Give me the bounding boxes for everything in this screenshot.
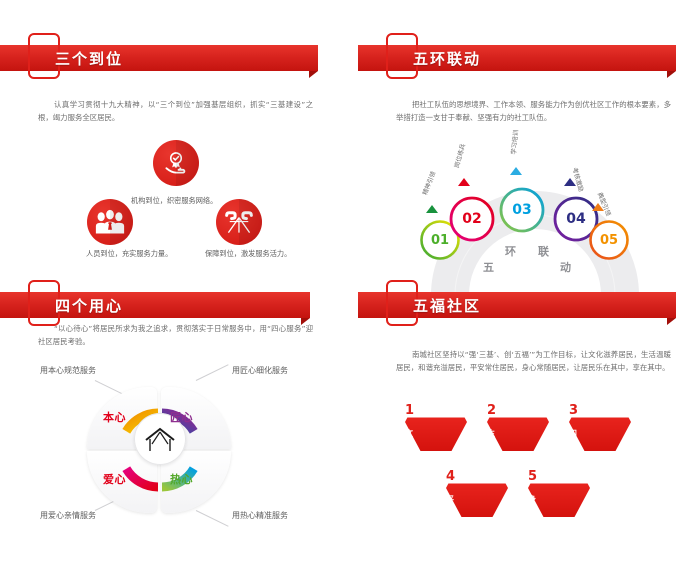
icon-shadow [110, 199, 133, 245]
icon-shadow [239, 199, 262, 245]
section-banner-four-hearts: 四个用心 [0, 280, 310, 326]
icon-circle-institution [153, 140, 199, 186]
hexagon-shape [528, 459, 590, 517]
ring-label-02: 岗位练兵 [452, 142, 467, 168]
section-title-five-blessings: 五福社区 [413, 292, 481, 318]
quadrant-outer-label-rexin: 用热心精准服务 [232, 510, 288, 521]
section-title-four-hearts: 四个用心 [55, 292, 123, 318]
quadrant-label-benxin: 本心 [103, 409, 126, 425]
section-title-five-ring: 五环联动 [413, 45, 481, 71]
section-body-five-ring: 把社工队伍的思想境界、工作本领、服务能力作为创优社区工作的根本要素，多举措打造一… [396, 98, 671, 124]
quadrant-label-jiangxin: 匠心 [170, 409, 193, 425]
section-title-three-in-place: 三个到位 [55, 45, 123, 71]
ring-arrow-02 [458, 178, 470, 186]
hexagon-shape [569, 393, 631, 451]
icon-shadow [176, 140, 199, 186]
section-body-five-blessings: 南城社区坚持以“强‘三基’、创‘五福’”为工作目标，让文化滋养居民，生活温暖居民… [396, 348, 671, 374]
ring-arrow-03 [510, 167, 522, 175]
arch-char-1: 五 [483, 259, 494, 275]
quadrant-label-rexin: 热心 [170, 471, 193, 487]
ring-number-03: 03 [503, 191, 541, 229]
infographic-page: 三个到位 认真学习贯彻十九大精神，以“三个到位”加强基层组织，抓实“三基建设”之… [0, 0, 700, 571]
quadrant-label-aixin: 爱心 [103, 471, 126, 487]
ring-arrow-01 [426, 205, 438, 213]
hexagon-shape [487, 393, 549, 451]
section-body-four-hearts: “以心待心”将居民所求为我之追求，贯彻落实于日常服务中，用“四心服务”迎社区居民… [38, 322, 313, 348]
section-banner-three-in-place: 三个到位 [0, 33, 318, 79]
section-body-three-in-place: 认真学习贯彻十九大精神，以“三个到位”加强基层组织，抓实“三基建设”之根，竭力服… [38, 98, 313, 124]
house-roof-icon [143, 426, 177, 452]
hexagon-shape [405, 393, 467, 451]
icon-label-support: 保障到位，激发服务活力。 [205, 249, 291, 259]
arch-char-4: 动 [560, 259, 571, 275]
icon-circle-support [216, 199, 262, 245]
icon-circle-staff [87, 199, 133, 245]
icon-label-staff: 人员到位，充实服务力量。 [86, 249, 172, 259]
leader-line [196, 364, 229, 381]
icon-label-institution: 机构到位，织密服务网络。 [131, 196, 217, 206]
arch-char-2: 环 [505, 243, 516, 259]
ring-number-02: 02 [453, 200, 491, 238]
quadrant-outer-label-benxin: 用本心规范服务 [40, 365, 96, 376]
quadrant-outer-label-jiangxin: 用匠心细化服务 [232, 365, 288, 376]
section-banner-five-ring: 五环联动 [358, 33, 676, 79]
arch-char-3: 联 [538, 243, 549, 259]
four-hearts-donut: 本心 匠心 热心 爱心 [85, 385, 235, 515]
ring-number-05: 05 [590, 221, 628, 259]
hexagon-shape [446, 459, 508, 517]
section-banner-five-blessings: 五福社区 [358, 280, 676, 326]
ring-label-03: 学习培训 [509, 129, 521, 155]
